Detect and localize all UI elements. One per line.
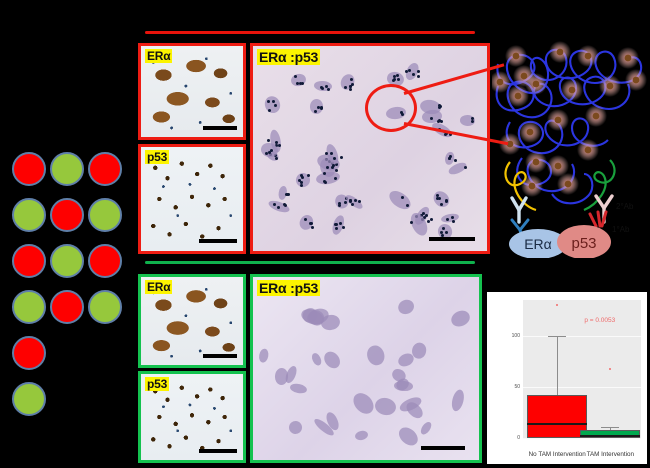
cell-nucleus	[354, 429, 369, 441]
cohort-dot-green	[50, 244, 84, 278]
p53-protein-label: p53	[571, 235, 596, 252]
cell-nucleus	[403, 400, 425, 422]
cell-nucleus	[419, 420, 434, 436]
pla-signal-dot	[304, 218, 307, 221]
pla-signal-dot	[323, 172, 326, 175]
untreated-p53-ihc-label: p53	[145, 150, 169, 164]
treated-era-ihc-panel[interactable]: ERα	[138, 274, 246, 368]
cell-nucleus	[365, 343, 387, 367]
pla-signal-dot	[299, 82, 302, 85]
pla-signal-dot	[454, 159, 457, 162]
pla-signal-dot	[351, 203, 354, 206]
cell-nucleus	[374, 396, 398, 417]
untreated-pla-label: ERα :p53	[257, 49, 320, 65]
cohort-dot-red	[50, 290, 84, 324]
scale-bar	[421, 446, 465, 450]
boxplot-y-tick-label: 0	[517, 435, 520, 441]
pla-signal-dot	[397, 78, 400, 81]
pla-signal-dot	[349, 200, 352, 203]
pla-signal-dot	[326, 166, 329, 169]
boxplot-whisker-cap	[601, 427, 619, 428]
boxplot-gridline	[523, 336, 641, 337]
cell-nucleus	[386, 187, 413, 212]
pla-signal-dot	[417, 70, 420, 73]
pla-signal-dot	[317, 106, 320, 109]
cell-nucleus	[430, 188, 452, 210]
boxplot-plot-area: 050100	[523, 300, 641, 438]
cell-nucleus	[450, 389, 466, 413]
cell-nucleus	[320, 314, 341, 332]
treated-p53-ihc-label: p53	[145, 377, 169, 391]
pla-signal-dot	[440, 120, 443, 123]
boxplot-outlier	[609, 368, 611, 370]
pla-signal-dot	[320, 86, 323, 89]
boxplot-box[interactable]	[527, 395, 587, 438]
untreated-era-ihc-panel[interactable]: ERα	[138, 43, 246, 140]
cell-nucleus	[298, 213, 316, 232]
pla-signal-dot	[452, 220, 455, 223]
cohort-dot-green	[50, 152, 84, 186]
pla-signal-dot	[310, 222, 313, 225]
cell-nucleus	[440, 212, 459, 223]
boxplot-x-tick-label: TAM Intervention	[587, 451, 634, 458]
cell-nucleus	[258, 348, 270, 363]
pla-signal-dot	[300, 181, 303, 184]
cell-nucleus	[448, 308, 472, 330]
cohort-dot-green	[88, 198, 122, 232]
pla-signal-dot	[464, 166, 467, 169]
pla-signal-dot	[425, 214, 428, 217]
pla-signal-dot	[349, 88, 352, 91]
pla-signal-dot	[335, 169, 338, 172]
scale-bar	[199, 239, 237, 243]
pla-signal-dot	[275, 141, 278, 144]
pla-mechanism-schematic: ERα p53 2°Ab 1°Ab	[492, 34, 648, 258]
cohort-dot-red	[12, 336, 46, 370]
cell-nucleus	[394, 380, 414, 392]
cohort-dot-red	[88, 152, 122, 186]
untreated-pla-panel[interactable]: ERα :p53	[250, 43, 490, 254]
cell-nucleus	[320, 349, 342, 372]
treated-p53-ihc-panel[interactable]: p53	[138, 371, 246, 463]
boxplot-y-tick-label: 50	[514, 384, 520, 390]
pla-signal-dot	[438, 197, 441, 200]
cohort-dot-green	[12, 382, 46, 416]
boxplot-whisker	[557, 336, 558, 395]
pla-signal-dot	[417, 75, 420, 78]
pla-signal-dot	[301, 176, 304, 179]
boxplot-median-line	[580, 435, 640, 437]
cell-nucleus	[396, 424, 421, 449]
treated-era-ihc-label: ERα	[145, 280, 172, 294]
pla-signal-dot	[335, 227, 338, 230]
pla-signal-dot	[274, 104, 277, 107]
pla-signal-dot	[325, 152, 328, 155]
pla-signal-dot	[267, 139, 270, 142]
cohort-dot-green	[12, 290, 46, 324]
treated-pla-panel[interactable]: ERα :p53	[250, 274, 482, 463]
boxplot-outlier	[556, 304, 558, 306]
pla-signal-dot	[272, 100, 275, 103]
pla-signal-dot	[427, 220, 430, 223]
boxplot-gridline	[523, 387, 641, 388]
pla-signal-dot	[327, 88, 330, 91]
treated-group-divider	[145, 261, 475, 264]
treated-pla-label: ERα :p53	[257, 280, 320, 296]
scale-bar	[203, 126, 237, 130]
cohort-dot-red	[50, 198, 84, 232]
pla-signal-dot	[331, 166, 334, 169]
cell-nucleus	[310, 351, 323, 366]
cohort-dot-red	[12, 244, 46, 278]
pla-signal-dot	[314, 110, 317, 113]
secondary-antibody-left	[512, 198, 526, 222]
boxplot-x-tick-label: No TAM Intervention	[529, 451, 586, 458]
pla-signal-dot	[446, 218, 449, 221]
scale-bar	[429, 237, 475, 241]
era-protein-label: ERα	[524, 236, 552, 252]
cohort-dot-red	[12, 152, 46, 186]
pla-signal-dot	[430, 218, 433, 221]
pla-signal-dot	[344, 86, 347, 89]
boxplot-median-line	[527, 423, 587, 425]
cell-nucleus	[290, 72, 307, 87]
pla-signal-dot	[320, 107, 323, 110]
p-value-annotation: p = 0.0053	[584, 317, 615, 324]
cell-nucleus	[262, 94, 282, 115]
cohort-dot-grid	[8, 152, 130, 452]
scale-bar	[199, 449, 237, 453]
cohort-dot-green	[88, 290, 122, 324]
cohort-dot-red	[88, 244, 122, 278]
untreated-group-divider	[145, 31, 475, 34]
pla-signal-dot	[284, 204, 287, 207]
quantification-boxplot[interactable]: Percent Positive Nuclei 050100 p = 0.005…	[487, 292, 647, 464]
pla-mechanism-svg: ERα p53 2°Ab 1°Ab	[492, 34, 648, 258]
cell-nucleus	[338, 72, 357, 92]
pla-signal-dot	[311, 226, 314, 229]
cell-nucleus	[289, 383, 307, 395]
pla-signal-dot	[285, 193, 288, 196]
pla-signal-dot	[342, 226, 345, 229]
cell-nucleus	[288, 420, 303, 434]
primary-antibody-label: 1°Ab	[612, 225, 630, 234]
pla-signal-dot	[340, 156, 343, 159]
cell-nucleus	[396, 297, 416, 316]
secondary-antibody-label: 2°Ab	[616, 202, 634, 211]
figure-canvas: ERα p53 ERα :p53 ERα p53 ERα :p53	[0, 0, 650, 468]
pla-signal-dot	[471, 117, 474, 120]
boxplot-whisker-cap	[548, 336, 566, 337]
untreated-p53-ihc-panel[interactable]: p53	[138, 144, 246, 254]
pla-signal-dot	[410, 221, 413, 224]
pla-signal-dot	[451, 216, 454, 219]
boxplot-y-tick-label: 100	[512, 333, 520, 339]
pla-signal-dot	[307, 174, 310, 177]
pla-signal-dot	[324, 181, 327, 184]
pla-signal-dot	[440, 231, 443, 234]
cell-nucleus	[331, 214, 347, 236]
pla-signal-dot	[296, 82, 299, 85]
untreated-era-ihc-label: ERα	[145, 49, 172, 63]
pla-signal-dot	[444, 133, 447, 136]
cell-nucleus	[350, 390, 378, 418]
pla-signal-dot	[437, 120, 440, 123]
cohort-dot-green	[12, 198, 46, 232]
scale-bar	[203, 354, 237, 358]
pla-signal-dot	[350, 78, 353, 81]
boxplot-gridline	[523, 438, 641, 439]
